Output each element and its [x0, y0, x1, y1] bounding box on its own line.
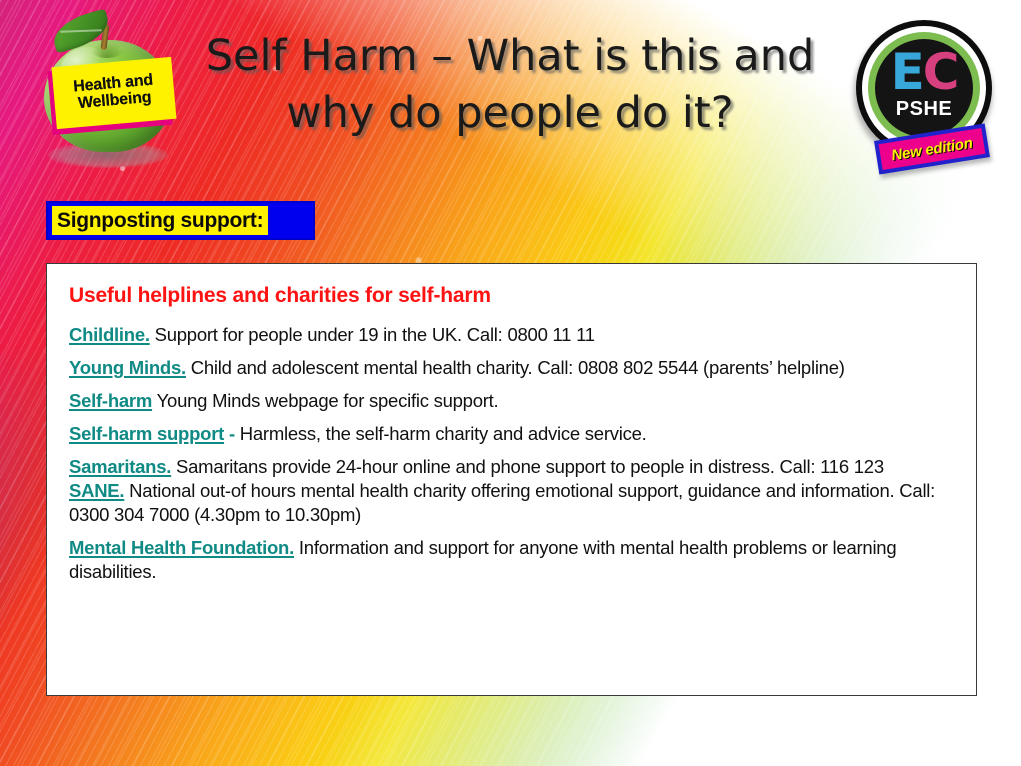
- link-mental-health-foundation[interactable]: Mental Health Foundation.: [69, 537, 294, 558]
- ec-logo-subject: PSHE: [875, 98, 973, 121]
- link-sane[interactable]: SANE.: [69, 480, 124, 501]
- helpline-entry-text: Support for people under 19 in the UK. C…: [150, 324, 595, 345]
- page-title-line1: Self Harm – What is this and: [200, 28, 820, 85]
- ec-logo-letter-e: E: [891, 47, 923, 97]
- link-samaritans[interactable]: Samaritans.: [69, 456, 171, 477]
- signposting-support-banner: Signposting support:: [46, 201, 315, 240]
- link-young-minds[interactable]: Young Minds.: [69, 357, 186, 378]
- page-title: Self Harm – What is this and why do peop…: [200, 28, 820, 142]
- content-heading: Useful helplines and charities for self-…: [69, 284, 954, 308]
- ec-pshe-logo: EC PSHE New edition: [848, 14, 1008, 182]
- page-title-line2: why do people do it?: [200, 85, 820, 142]
- helpline-entry-text: Child and adolescent mental health chari…: [186, 357, 845, 378]
- ec-logo-letters: EC: [875, 44, 973, 100]
- new-edition-badge-label: New edition: [890, 134, 974, 164]
- helplines-content-box: Useful helplines and charities for self-…: [46, 263, 977, 696]
- helpline-entry: Self-harm Young Minds webpage for specif…: [69, 380, 954, 413]
- ec-logo-letter-c: C: [923, 47, 958, 97]
- helpline-entry: Mental Health Foundation. Information an…: [69, 527, 954, 584]
- helpline-entry-dash: -: [224, 423, 240, 444]
- slide-canvas: Health and Wellbeing Self Harm – What is…: [0, 0, 1021, 766]
- link-self-harm[interactable]: Self-harm: [69, 390, 152, 411]
- link-childline[interactable]: Childline.: [69, 324, 150, 345]
- helpline-entry: Young Minds. Child and adolescent mental…: [69, 347, 954, 380]
- link-self-harm-support[interactable]: Self-harm support: [69, 423, 224, 444]
- helpline-entry: Childline. Support for people under 19 i…: [69, 314, 954, 347]
- signposting-label: Signposting support:: [57, 209, 263, 233]
- health-and-wellbeing-apple-logo: Health and Wellbeing: [34, 14, 184, 179]
- helpline-entry-text: Harmless, the self-harm charity and advi…: [240, 423, 647, 444]
- helpline-entry: Samaritans. Samaritans provide 24-hour o…: [69, 446, 954, 479]
- helpline-entry-text: Samaritans provide 24-hour online and ph…: [171, 456, 884, 477]
- helpline-entry: Self-harm support - Harmless, the self-h…: [69, 413, 954, 446]
- apple-label: Health and Wellbeing: [52, 57, 177, 129]
- apple-label-line2: Wellbeing: [77, 90, 152, 113]
- signposting-highlight: Signposting support:: [52, 206, 268, 235]
- helpline-entry: SANE. National out-of hours mental healt…: [69, 479, 954, 527]
- helpline-entry-text: National out-of hours mental health char…: [69, 480, 935, 525]
- helpline-entry-text: Young Minds webpage for specific support…: [152, 390, 498, 411]
